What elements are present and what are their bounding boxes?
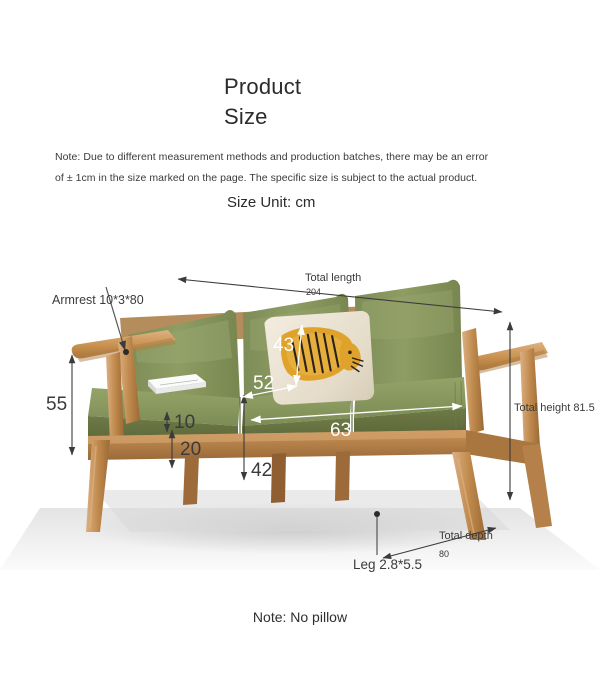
label-total-depth: Total depth — [439, 530, 493, 542]
value-armrest-height: 55 — [46, 394, 67, 416]
product-size-page: Product Size Note: Due to different meas… — [0, 0, 600, 676]
value-total-depth: 80 — [439, 549, 449, 559]
dim-backrest-height-line — [296, 325, 302, 385]
no-pillow-note: Note: No pillow — [0, 609, 600, 625]
page-title: Product Size — [224, 72, 301, 132]
dim-seat-width-line — [251, 406, 462, 420]
size-unit-label: Size Unit: cm — [227, 194, 315, 211]
value-apron-thickness: 10 — [174, 412, 195, 434]
title-line-size: Size — [224, 102, 301, 132]
value-seat-height: 42 — [251, 460, 272, 482]
label-total-height: Total height 81.5 — [514, 402, 595, 414]
measurement-note-line1: Note: Due to different measurement metho… — [55, 150, 488, 164]
label-total-length: Total length — [305, 272, 361, 284]
value-backrest-height: 43 — [273, 335, 294, 357]
value-total-length: 204 — [306, 287, 321, 297]
value-leg-clearance: 20 — [180, 439, 201, 461]
value-seat-width: 63 — [330, 420, 351, 442]
sofa-diagram: Armrest 10*3*80 Total length 204 55 10 2… — [0, 240, 600, 610]
label-leg: Leg 2.8*5.5 — [353, 557, 422, 572]
value-seat-depth: 52 — [253, 373, 274, 395]
label-armrest: Armrest 10*3*80 — [52, 293, 144, 307]
measurement-note-line2: of ± 1cm in the size marked on the page.… — [55, 171, 477, 185]
title-line-product: Product — [224, 72, 301, 102]
